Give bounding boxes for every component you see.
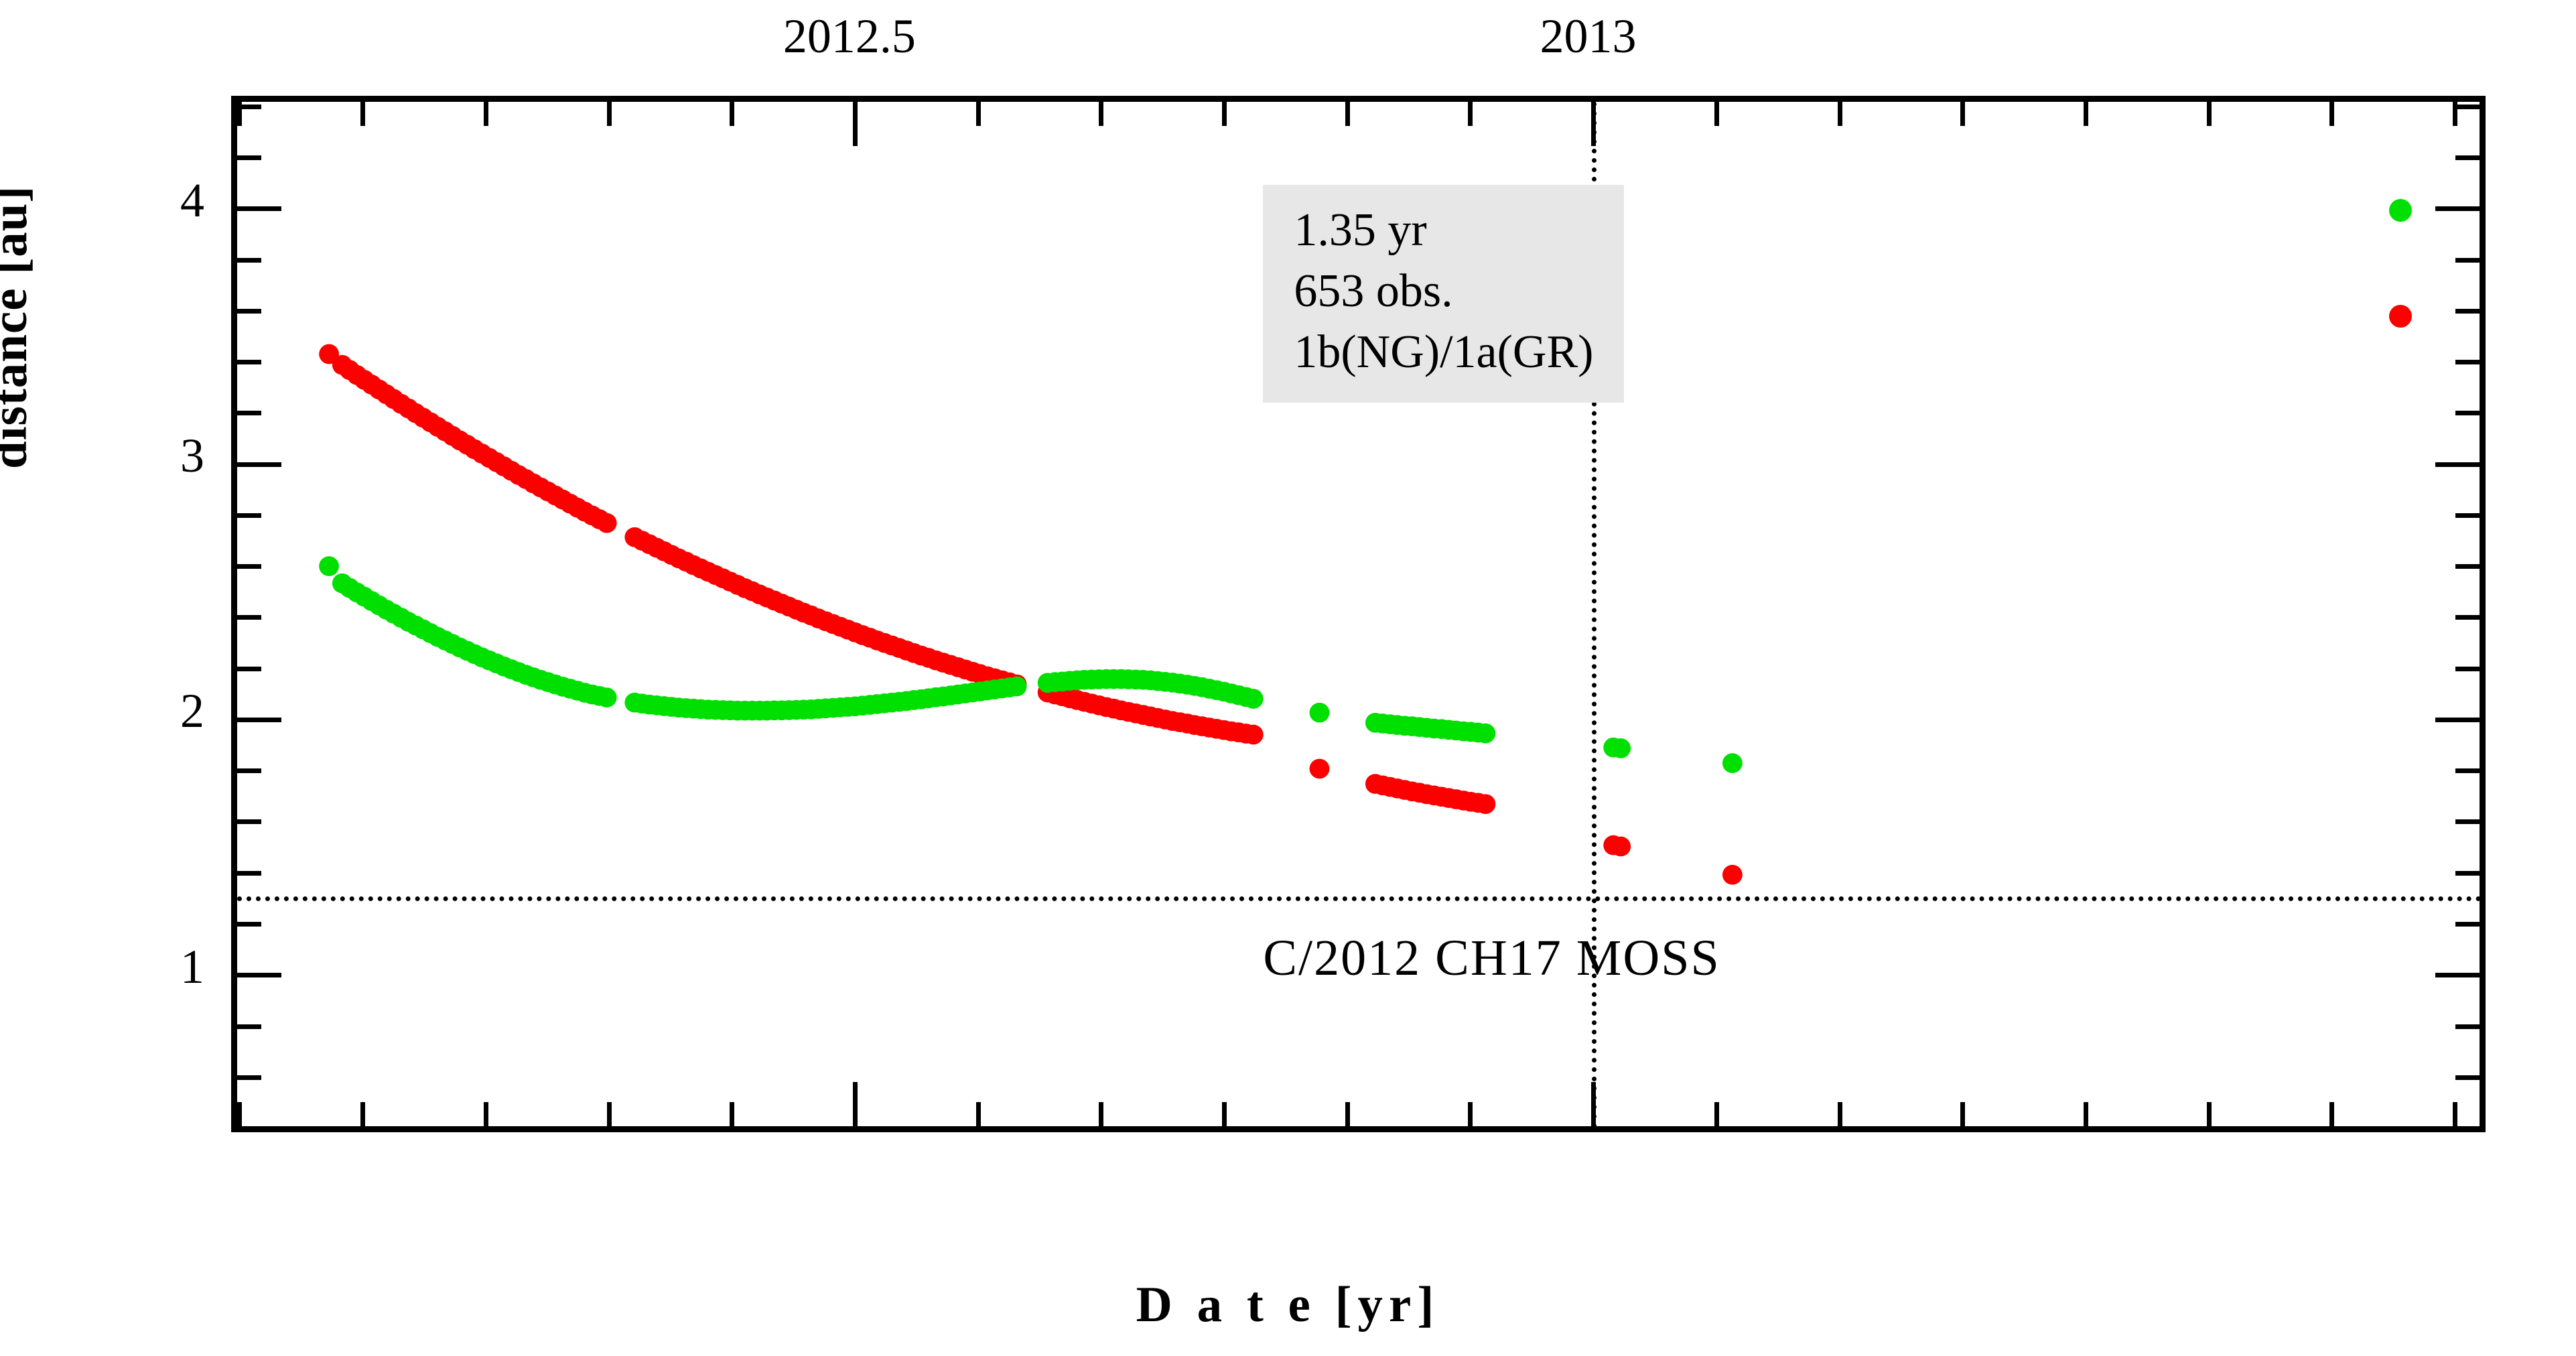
orbit-quality-text: 1b(NG)/1a(GR) (1294, 322, 1593, 383)
data-point (1243, 725, 1264, 745)
observations-text: 653 obs. (1294, 261, 1593, 322)
data-point (1310, 759, 1330, 779)
data-point (1475, 724, 1495, 744)
data-point (597, 513, 617, 533)
y-tick-label: 2 (124, 687, 204, 735)
series-heliocentric-distance (319, 344, 1743, 885)
info-box: 1.35 yr 653 obs. 1b(NG)/1a(GR) (1263, 185, 1624, 403)
y-tick-label: 3 (124, 431, 204, 480)
y-axis-title: distance [au] (0, 186, 39, 469)
data-point (1007, 677, 1027, 697)
data-point (597, 687, 617, 707)
data-point (319, 556, 339, 576)
data-point (1722, 865, 1743, 885)
y-tick-label: 4 (124, 176, 204, 224)
y-tick-label: 1 (124, 943, 204, 991)
data-point (1611, 738, 1631, 758)
x-axis-title: D a t e [yr] (0, 1276, 2576, 1334)
data-point (1722, 753, 1743, 773)
x-tick-label: 2012.5 (783, 12, 916, 60)
data-point (1475, 794, 1495, 814)
data-point (1243, 689, 1264, 709)
x-tick-label: 2013 (1540, 12, 1637, 60)
data-point (1310, 703, 1330, 723)
object-designation: C/2012 CH17 MOSS (1263, 929, 1720, 988)
arc-length-text: 1.35 yr (1294, 200, 1593, 261)
data-point (1611, 837, 1631, 857)
series-geocentric-distance (319, 556, 1743, 773)
comet-distance-figure: 2012.52013 4321 distance [au] D a t e [y… (0, 0, 2576, 1356)
